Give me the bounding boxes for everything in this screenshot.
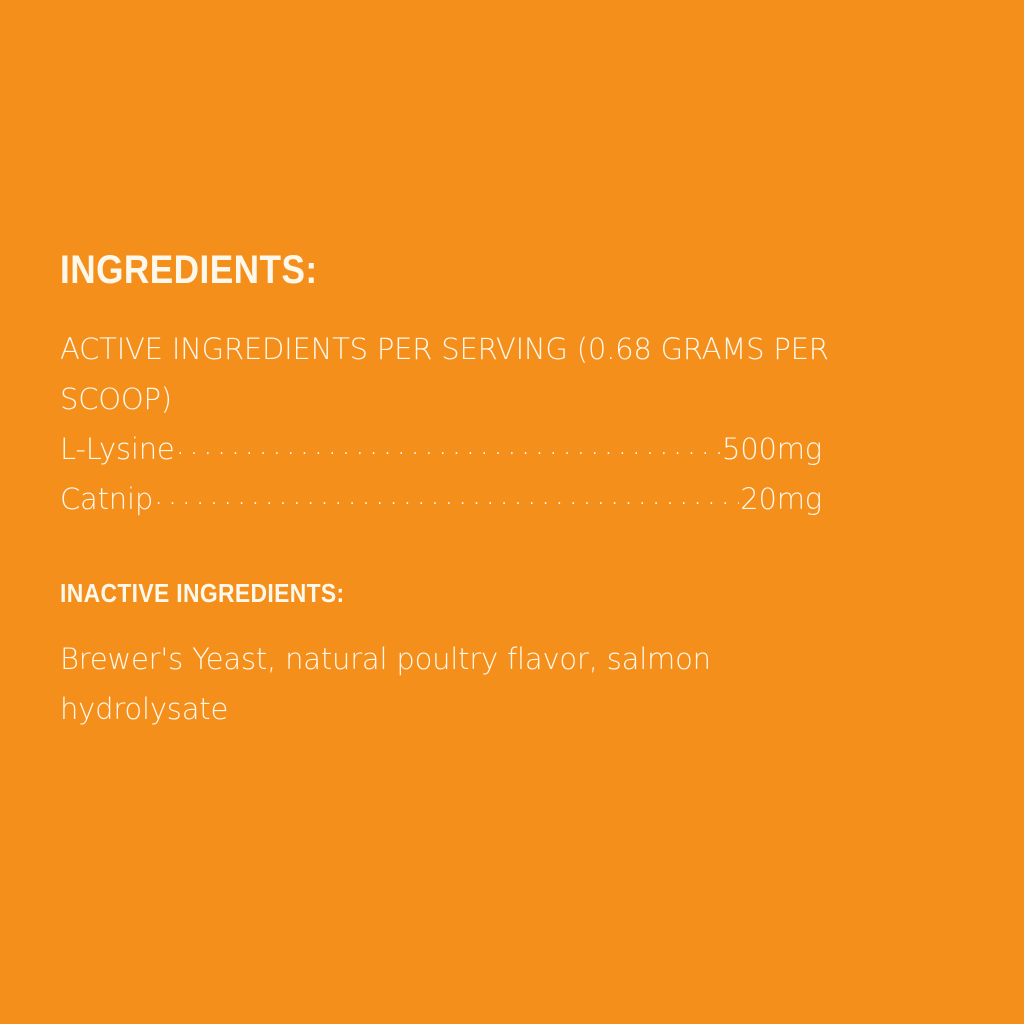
- ingredient-amount: 500mg: [722, 424, 822, 474]
- section-spacer: [60, 524, 940, 578]
- list-item: L-Lysine 500mg: [60, 424, 822, 474]
- list-item: Catnip 20mg: [60, 474, 822, 524]
- dot-leader: [176, 430, 721, 459]
- ingredients-content: INGREDIENTS: ACTIVE INGREDIENTS PER SERV…: [60, 248, 940, 734]
- active-serving-note: ACTIVE INGREDIENTS PER SERVING (0.68 GRA…: [60, 324, 905, 424]
- ingredient-amount: 20mg: [740, 474, 822, 524]
- ingredient-name: L-Lysine: [60, 424, 175, 474]
- ingredients-panel: INGREDIENTS: ACTIVE INGREDIENTS PER SERV…: [0, 0, 1024, 1024]
- active-ingredients-list: L-Lysine 500mg Catnip 20mg: [60, 424, 940, 524]
- dot-leader: [154, 480, 739, 509]
- inactive-ingredients-title: INACTIVE INGREDIENTS:: [60, 578, 834, 608]
- inactive-ingredients-body: Brewer's Yeast, natural poultry flavor, …: [60, 634, 820, 734]
- ingredient-name: Catnip: [60, 474, 153, 524]
- page-title: INGREDIENTS:: [60, 248, 834, 292]
